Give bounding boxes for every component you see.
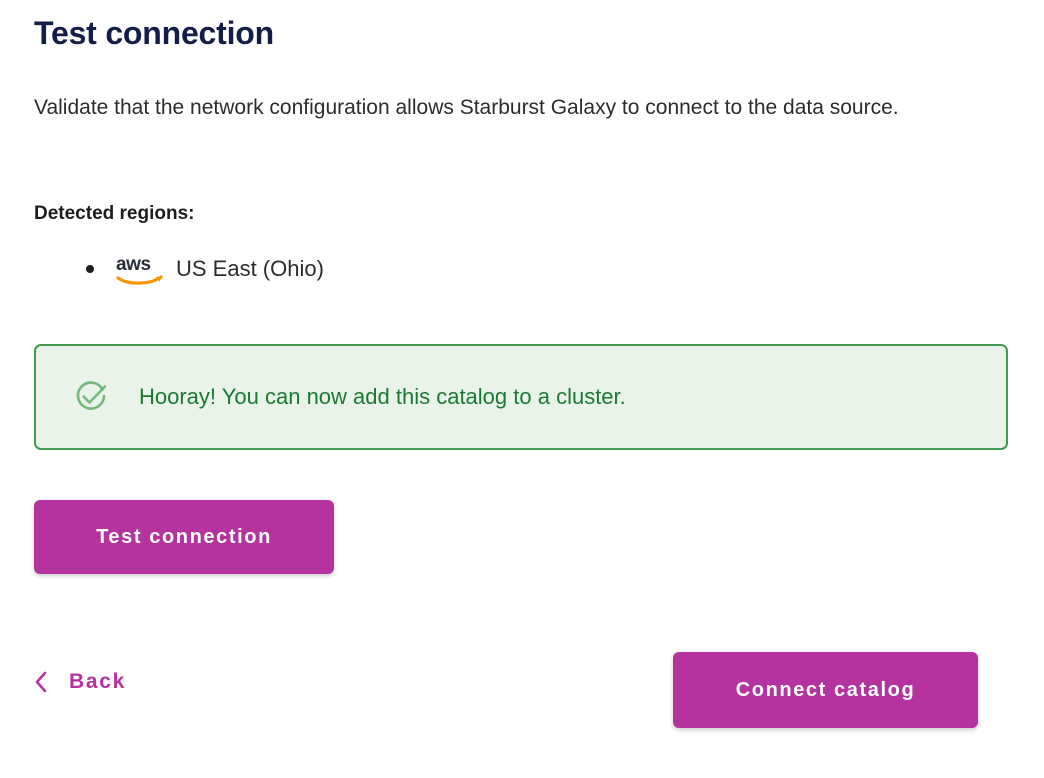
chevron-left-icon — [33, 670, 49, 694]
aws-logo-icon: aws — [116, 252, 168, 286]
test-connection-page: Test connection Validate that the networ… — [0, 0, 1044, 778]
svg-text:aws: aws — [116, 254, 151, 275]
bullet-icon — [86, 265, 94, 273]
detected-regions-label: Detected regions: — [34, 200, 194, 228]
back-label: Back — [69, 670, 126, 694]
region-name: US East (Ohio) — [176, 254, 324, 284]
test-connection-button[interactable]: Test connection — [34, 500, 334, 574]
list-item: aws US East (Ohio) — [34, 252, 324, 286]
back-button[interactable]: Back — [33, 670, 126, 694]
page-title: Test connection — [34, 12, 274, 54]
check-circle-icon — [71, 377, 111, 417]
status-banner: Hooray! You can now add this catalog to … — [34, 344, 1008, 450]
connect-catalog-button[interactable]: Connect catalog — [673, 652, 978, 728]
detected-regions-list: aws US East (Ohio) — [34, 252, 324, 286]
page-description: Validate that the network configuration … — [34, 84, 994, 132]
status-banner-message: Hooray! You can now add this catalog to … — [139, 382, 626, 412]
